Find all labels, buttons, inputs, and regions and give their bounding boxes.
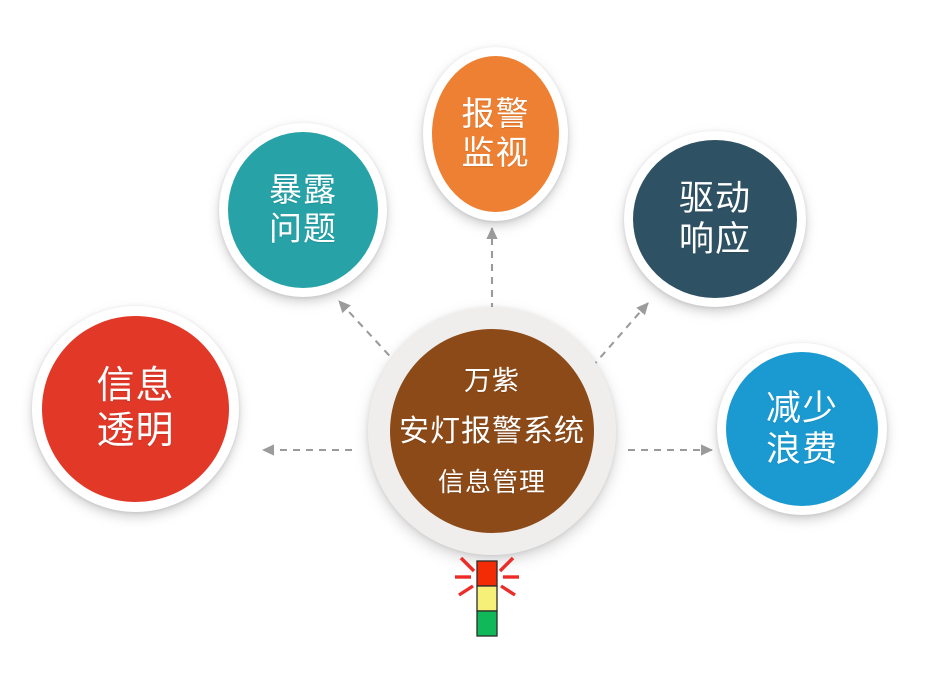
flash-ray-1 bbox=[461, 558, 474, 571]
node-information-transparency-label: 信息透明 bbox=[96, 364, 174, 454]
flash-ray-4 bbox=[500, 558, 513, 571]
node-drive-response[interactable]: 驱动响应 bbox=[624, 131, 806, 307]
node-drive-response-line2: 响应 bbox=[679, 220, 751, 259]
lamp-red bbox=[477, 561, 497, 586]
node-reduce-waste-line2: 浪费 bbox=[766, 430, 838, 469]
lamp-green bbox=[477, 611, 497, 636]
node-expose-problems-line1: 暴露 bbox=[269, 171, 337, 208]
node-alarm-monitoring-disc: 报警监视 bbox=[432, 56, 559, 212]
node-information-transparency[interactable]: 信息透明 bbox=[32, 306, 239, 512]
andon-light-tower bbox=[437, 545, 537, 645]
node-expose-problems-disc: 暴露问题 bbox=[228, 132, 378, 288]
center-hub-line1: 万紫 bbox=[464, 368, 520, 395]
center-hub[interactable]: 万紫 安灯报警系统 信息管理 bbox=[368, 307, 616, 555]
node-drive-response-disc: 驱动响应 bbox=[633, 140, 797, 298]
node-information-transparency-disc: 信息透明 bbox=[42, 316, 229, 502]
flash-ray-3 bbox=[459, 586, 473, 595]
lamp-yellow bbox=[477, 586, 497, 611]
node-drive-response-line1: 驱动 bbox=[679, 179, 751, 218]
node-alarm-monitoring-label: 报警监视 bbox=[462, 95, 530, 173]
node-drive-response-label: 驱动响应 bbox=[679, 178, 751, 261]
center-hub-line3: 信息管理 bbox=[438, 469, 546, 495]
node-alarm-monitoring-line2: 监视 bbox=[462, 134, 530, 171]
node-alarm-monitoring-line1: 报警 bbox=[462, 95, 530, 132]
node-alarm-monitoring[interactable]: 报警监视 bbox=[423, 47, 568, 221]
node-reduce-waste-line1: 减少 bbox=[766, 389, 838, 428]
connector-to-drive-response bbox=[592, 303, 648, 367]
node-expose-problems-label: 暴露问题 bbox=[269, 171, 337, 249]
center-hub-disc: 万紫 安灯报警系统 信息管理 bbox=[390, 329, 594, 533]
flash-ray-6 bbox=[501, 586, 515, 595]
node-reduce-waste-disc: 减少浪费 bbox=[726, 352, 878, 506]
node-reduce-waste[interactable]: 减少浪费 bbox=[717, 343, 887, 515]
node-reduce-waste-label: 减少浪费 bbox=[766, 388, 838, 471]
node-information-transparency-line2: 透明 bbox=[96, 410, 174, 452]
diagram-canvas: 万紫 安灯报警系统 信息管理 报警监视 暴露问题 驱动响应 信息透明 减少浪费 bbox=[0, 0, 939, 680]
node-information-transparency-line1: 信息 bbox=[96, 365, 174, 407]
node-expose-problems-line2: 问题 bbox=[269, 210, 337, 247]
center-hub-line2: 安灯报警系统 bbox=[399, 417, 585, 447]
node-expose-problems[interactable]: 暴露问题 bbox=[219, 123, 387, 297]
connector-to-expose-problems bbox=[339, 301, 398, 365]
center-hub-text: 万紫 安灯报警系统 信息管理 bbox=[399, 368, 585, 495]
